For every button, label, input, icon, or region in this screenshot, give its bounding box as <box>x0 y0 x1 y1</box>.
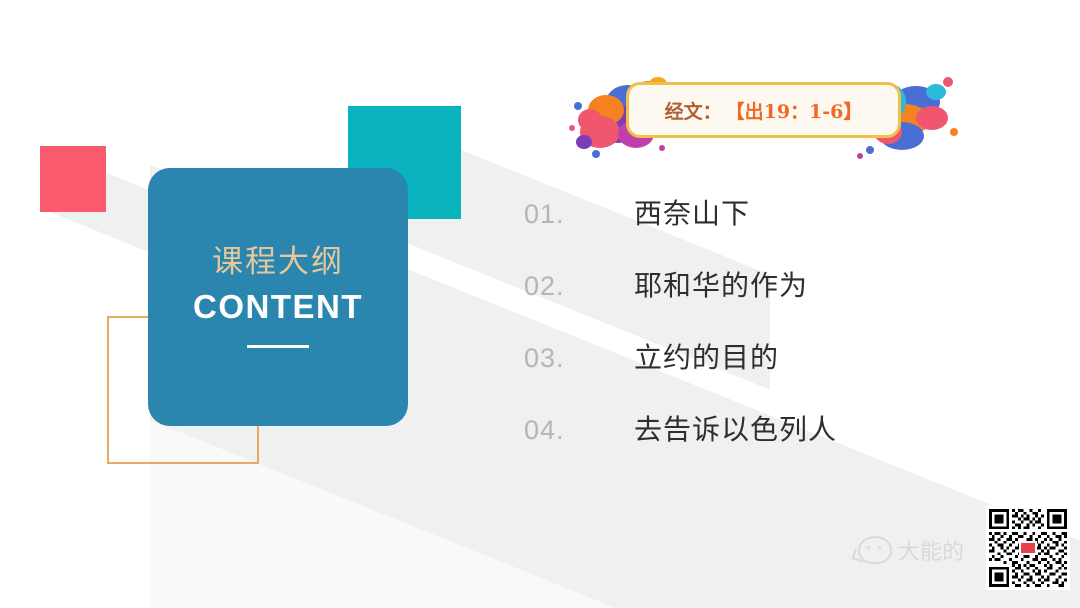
list-item-label: 立约的目的 <box>634 336 779 376</box>
list-item[interactable]: 02. 耶和华的作为 <box>524 264 994 336</box>
list-item-number: 02. <box>524 271 634 302</box>
qr-center-logo-icon <box>1019 541 1037 555</box>
outline-list: 01. 西奈山下 02. 耶和华的作为 03. 立约的目的 04. 去告诉以色列… <box>524 192 994 480</box>
wechat-icon <box>858 536 892 564</box>
content-title-underline <box>247 345 309 348</box>
list-item-label: 去告诉以色列人 <box>634 408 837 448</box>
list-item[interactable]: 01. 西奈山下 <box>524 192 994 264</box>
list-item-number: 03. <box>524 343 634 374</box>
list-item[interactable]: 04. 去告诉以色列人 <box>524 408 994 480</box>
list-item-label: 西奈山下 <box>634 192 750 232</box>
watermark-text: 大能的 <box>898 534 964 566</box>
content-title-cn: 课程大纲 <box>212 247 344 278</box>
scripture-banner-box: 经文： 【出19：1-6】 <box>626 82 901 138</box>
scripture-reference: 【出19：1-6】 <box>726 97 863 124</box>
list-item-number: 01. <box>524 199 634 230</box>
slide-canvas: 课程大纲 CONTENT <box>0 0 1080 608</box>
list-item-label: 耶和华的作为 <box>634 264 808 304</box>
qr-code[interactable] <box>986 506 1070 590</box>
wechat-watermark: 大能的 <box>858 534 964 566</box>
red-square-decor <box>40 146 106 212</box>
list-item[interactable]: 03. 立约的目的 <box>524 336 994 408</box>
scripture-label: 经文： <box>665 97 722 124</box>
scripture-banner: 经文： 【出19：1-6】 <box>566 62 966 174</box>
list-item-number: 04. <box>524 415 634 446</box>
content-title-en: CONTENT <box>193 290 363 323</box>
content-title-card: 课程大纲 CONTENT <box>148 168 408 426</box>
